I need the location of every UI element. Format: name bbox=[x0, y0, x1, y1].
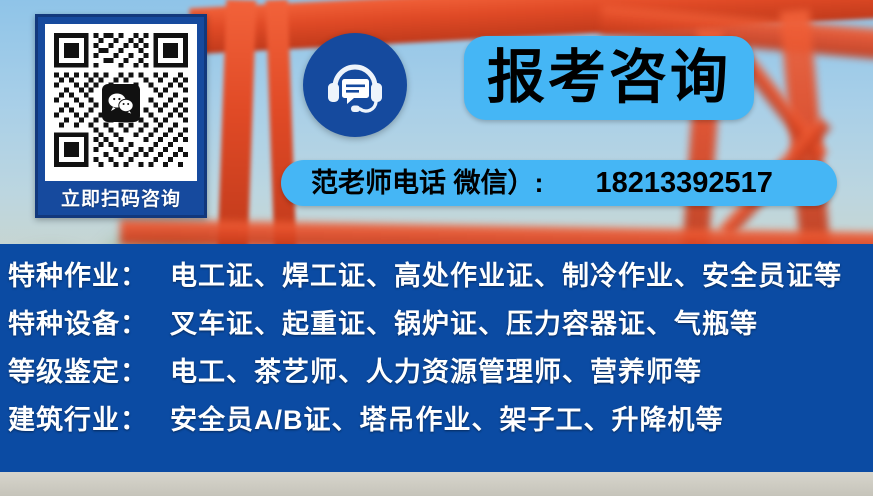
wechat-icon bbox=[102, 84, 140, 122]
headset-support-icon bbox=[303, 33, 407, 137]
category-label: 等级鉴定： bbox=[8, 350, 148, 389]
qr-card[interactable]: 立即扫码咨询 bbox=[35, 14, 207, 218]
qr-caption: 立即扫码咨询 bbox=[45, 181, 197, 219]
category-items: 安全员A/B证、塔吊作业、架子工、升降机等 bbox=[170, 398, 724, 437]
category-row-special-equipment: 特种设备： 叉车证、起重证、锅炉证、压力容器证、气瓶等 bbox=[0, 302, 873, 350]
category-list-panel: 特种作业： 电工证、焊工证、高处作业证、制冷作业、安全员证等 特种设备： 叉车证… bbox=[0, 244, 873, 472]
category-label: 特种作业： bbox=[8, 254, 148, 293]
title-pill: 报考咨询 bbox=[464, 36, 754, 120]
category-label: 建筑行业： bbox=[8, 398, 148, 437]
category-row-grade-assessment: 等级鉴定： 电工、茶艺师、人力资源管理师、营养师等 bbox=[0, 350, 873, 398]
contact-label: 范老师电话 微信）: bbox=[311, 170, 544, 197]
category-items: 叉车证、起重证、锅炉证、压力容器证、气瓶等 bbox=[170, 302, 758, 341]
category-items: 电工证、焊工证、高处作业证、制冷作业、安全员证等 bbox=[170, 254, 842, 293]
qr-code[interactable] bbox=[45, 24, 197, 181]
category-row-special-operations: 特种作业： 电工证、焊工证、高处作业证、制冷作业、安全员证等 bbox=[0, 254, 873, 302]
wechat-icon-glyph bbox=[108, 92, 134, 114]
background-bottom-strip bbox=[0, 472, 873, 496]
category-items: 电工、茶艺师、人力资源管理师、营养师等 bbox=[170, 350, 702, 389]
category-label: 特种设备： bbox=[8, 302, 148, 341]
headset-support-icon-glyph bbox=[324, 56, 386, 114]
contact-phone-number[interactable]: 18213392517 bbox=[596, 169, 773, 198]
promo-poster: 立即扫码咨询 报考咨询 范老师电话 微信）: 18213392517 bbox=[0, 0, 873, 496]
page-title: 报考咨询 bbox=[487, 49, 731, 107]
contact-pill[interactable]: 范老师电话 微信）: 18213392517 bbox=[281, 160, 837, 206]
category-row-construction-industry: 建筑行业： 安全员A/B证、塔吊作业、架子工、升降机等 bbox=[0, 398, 873, 446]
